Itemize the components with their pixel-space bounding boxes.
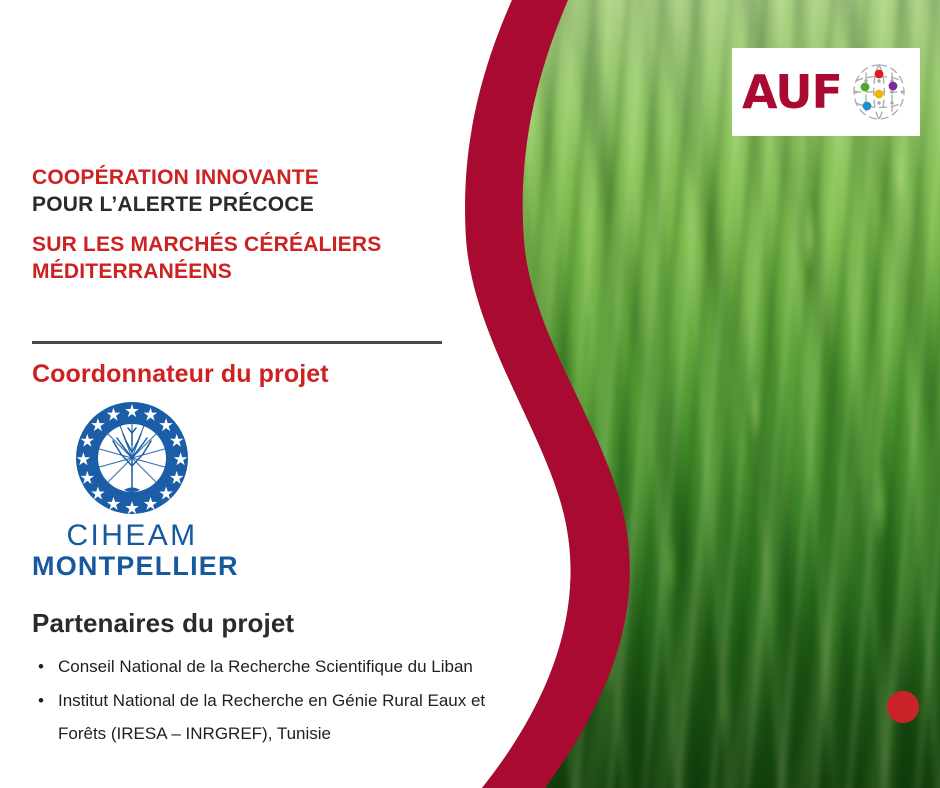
auf-node-yellow [875, 90, 884, 99]
headline-spacer [32, 219, 452, 232]
partners-section-title: Partenaires du projet [32, 608, 294, 639]
ciheam-city-label: MONTPELLIER [32, 552, 232, 580]
programme-badge: PROGRAMME CO//ECTIF [32, 52, 427, 120]
auf-node-red [875, 70, 884, 79]
list-item: Conseil National de la Recherche Scienti… [32, 650, 522, 684]
coordinator-section-title: Coordonnateur du projet [32, 360, 329, 389]
ciheam-emblem-icon [72, 400, 192, 516]
ciheam-wordmark: CIHEAM [32, 520, 232, 552]
headline-block: COOPÉRATION INNOVANTE POUR L’ALERTE PRÉC… [32, 165, 452, 286]
headline-line-3: SUR LES MARCHÉS CÉRÉALIERS [32, 232, 452, 259]
auf-wordmark: AUF [742, 69, 842, 115]
red-accent-dot [887, 691, 919, 723]
headline-line-2: POUR L’ALERTE PRÉCOCE [32, 192, 452, 219]
ciheam-montpellier-logo: CIHEAM MONTPELLIER [32, 400, 232, 580]
auf-node-green [861, 83, 870, 92]
programme-badge-label: PROGRAMME CO//ECTIF [74, 72, 384, 101]
auf-logo: AUF [732, 48, 920, 136]
list-item: Institut National de la Recherche en Gén… [32, 684, 522, 751]
partners-list: Conseil National de la Recherche Scienti… [32, 650, 522, 751]
headline-line-1: COOPÉRATION INNOVANTE [32, 165, 452, 192]
auf-globe-network-icon [848, 61, 910, 123]
headline-line-4: MÉDITERRANÉENS [32, 259, 452, 286]
auf-node-blue [863, 102, 872, 111]
section-divider [32, 341, 442, 344]
left-content-column: PROGRAMME CO//ECTIF COOPÉRATION INNOVANT… [0, 0, 470, 788]
auf-node-purple [889, 82, 898, 91]
